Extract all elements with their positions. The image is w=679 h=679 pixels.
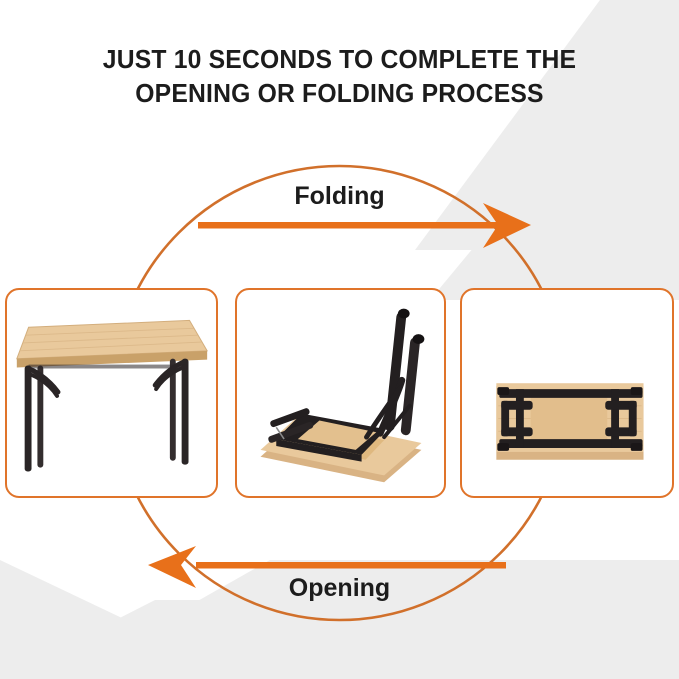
panel-table-half-folded[interactable] <box>235 288 446 498</box>
leg-left <box>25 366 58 472</box>
page-title: JUST 10 SECONDS TO COMPLETE THE OPENING … <box>17 42 662 110</box>
leg-right <box>155 359 188 465</box>
panel-table-open[interactable] <box>5 288 218 498</box>
folded-board-recess <box>531 394 608 443</box>
folding-label: Folding <box>0 182 679 210</box>
opening-label: Opening <box>0 574 679 602</box>
folding-arrow-shaft <box>198 222 510 229</box>
infographic-root: JUST 10 SECONDS TO COMPLETE THE OPENING … <box>0 0 679 679</box>
page-title-line-2: OPENING OR FOLDING PROCESS <box>17 76 662 110</box>
table-open-icon <box>7 290 216 496</box>
table-half-folded-icon <box>237 290 444 496</box>
apron-rail <box>29 365 188 369</box>
page-title-line-1: JUST 10 SECONDS TO COMPLETE THE <box>17 42 662 76</box>
opening-arrow-shaft <box>196 562 506 569</box>
table-folded-flat-icon <box>462 290 672 496</box>
panel-table-folded-flat[interactable] <box>460 288 674 498</box>
leg-upright-pair <box>366 309 424 438</box>
